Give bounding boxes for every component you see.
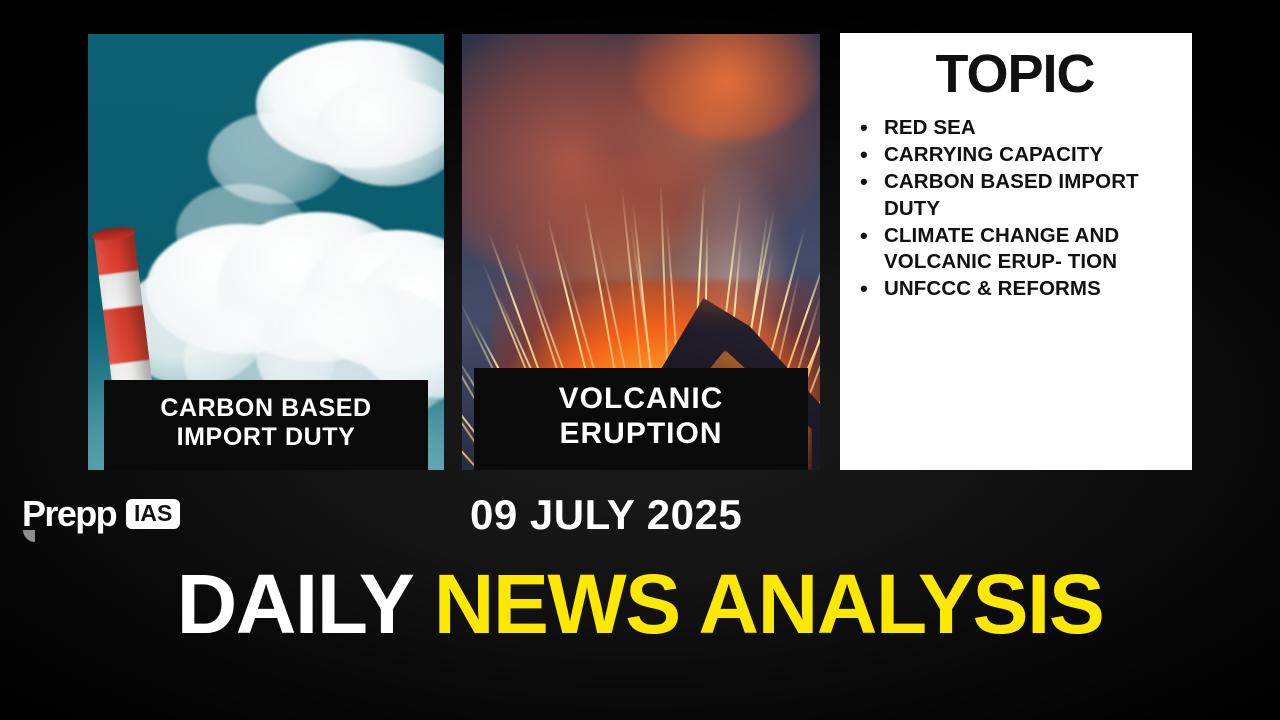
topic-list-item: CARRYING CAPACITY bbox=[854, 142, 1178, 168]
topic-list-item: CLIMATE CHANGE AND VOLCANIC ERUP- TION bbox=[854, 223, 1178, 275]
topic-list-item: RED SEA bbox=[854, 115, 1178, 141]
topic-card: TOPIC RED SEA CARRYING CAPACITY CARBON B… bbox=[840, 33, 1192, 470]
brand-p-descender-icon bbox=[23, 530, 35, 542]
topic-list-item: CARBON BASED IMPORT DUTY bbox=[854, 169, 1178, 221]
caption-line-1: CARBON BASED bbox=[110, 394, 422, 423]
brand-logo: Prepp IAS bbox=[22, 496, 180, 532]
panel-caption-volcano: VOLCANIC ERUPTION bbox=[474, 368, 808, 470]
panel-volcano: VOLCANIC ERUPTION bbox=[462, 34, 820, 470]
caption-line-2: ERUPTION bbox=[480, 417, 802, 452]
main-title: DAILY NEWS ANALYSIS bbox=[0, 562, 1280, 646]
caption-line-1: VOLCANIC bbox=[480, 382, 802, 417]
main-title-primary: DAILY bbox=[177, 557, 434, 651]
panel-caption-smokestack: CARBON BASED IMPORT DUTY bbox=[104, 380, 428, 470]
brand-ias-badge: IAS bbox=[126, 499, 180, 529]
main-title-highlight: NEWS ANALYSIS bbox=[434, 557, 1104, 651]
date-label: 09 JULY 2025 bbox=[470, 494, 742, 536]
caption-line-2: IMPORT DUTY bbox=[110, 423, 422, 452]
panel-smokestack: CARBON BASED IMPORT DUTY bbox=[88, 34, 444, 470]
thumbnail-canvas: CARBON BASED IMPORT DUTY VOLCANIC ERUPTI… bbox=[0, 0, 1280, 720]
topic-list: RED SEA CARRYING CAPACITY CARBON BASED I… bbox=[848, 115, 1182, 303]
brand-wordmark: Prepp bbox=[22, 496, 116, 532]
topic-list-item: UNFCCC & REFORMS bbox=[854, 276, 1178, 302]
brand-wordmark-text: Prepp bbox=[22, 493, 116, 534]
topic-card-title: TOPIC bbox=[848, 47, 1182, 101]
